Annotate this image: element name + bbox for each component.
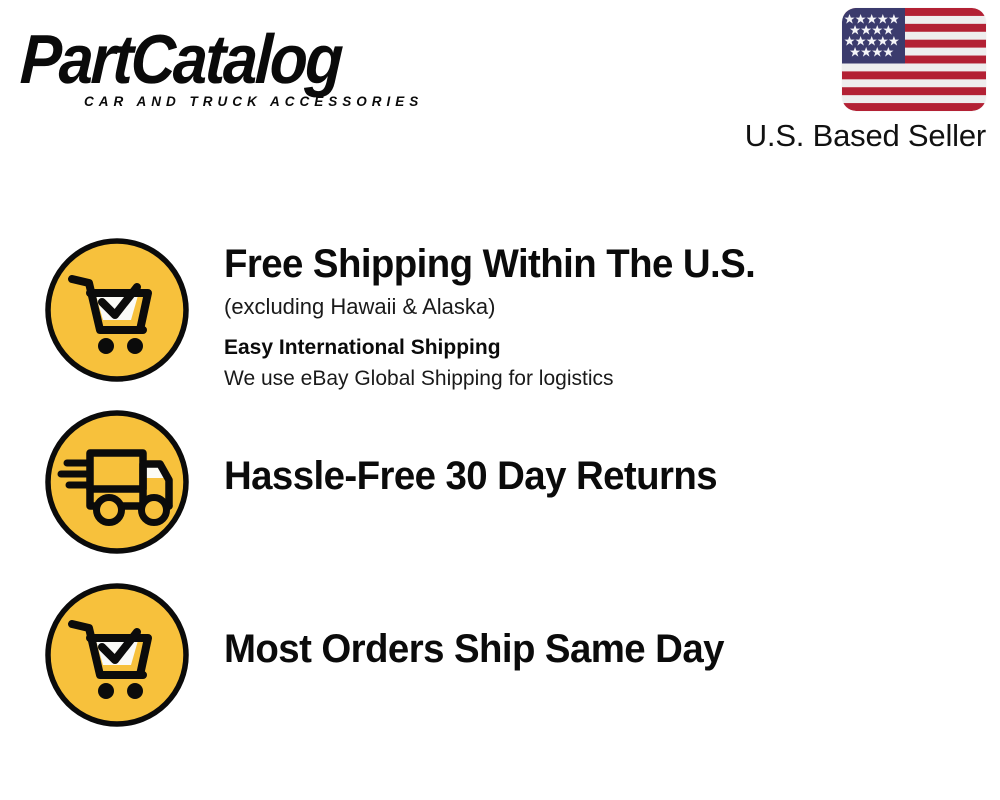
brand-wordmark: PartCatalog — [19, 26, 492, 95]
shopping-cart-check-icon — [43, 581, 191, 729]
feature-text-block: Most Orders Ship Same Day — [224, 581, 1000, 673]
feature-text-block: Free Shipping Within The U.S. (excluding… — [224, 236, 1000, 394]
feature-row: Most Orders Ship Same Day — [0, 581, 1000, 729]
feature-title: Most Orders Ship Same Day — [224, 625, 969, 673]
delivery-truck-icon — [43, 408, 191, 556]
us-based-seller-badge: U.S. Based Seller — [706, 8, 986, 154]
us-flag-icon — [842, 8, 986, 111]
feature-title: Free Shipping Within The U.S. — [224, 240, 969, 288]
feature-subtitle-strong: Easy International Shipping — [224, 332, 1000, 363]
feature-row: Hassle-Free 30 Day Returns — [0, 408, 1000, 556]
brand-tagline: CAR AND TRUCK ACCESSORIES — [84, 94, 423, 109]
feature-text-block: Hassle-Free 30 Day Returns — [224, 408, 1000, 500]
feature-title: Hassle-Free 30 Day Returns — [224, 452, 969, 500]
feature-row: Free Shipping Within The U.S. (excluding… — [0, 236, 1000, 394]
page-header: PartCatalog CAR AND TRUCK ACCESSORIES — [0, 0, 1000, 170]
brand-logo[interactable]: PartCatalog CAR AND TRUCK ACCESSORIES — [22, 26, 492, 116]
us-based-seller-label: U.S. Based Seller — [706, 118, 986, 154]
feature-subtitle: We use eBay Global Shipping for logistic… — [224, 363, 1000, 394]
shopping-cart-check-icon — [43, 236, 191, 384]
feature-note: (excluding Hawaii & Alaska) — [224, 290, 1000, 324]
